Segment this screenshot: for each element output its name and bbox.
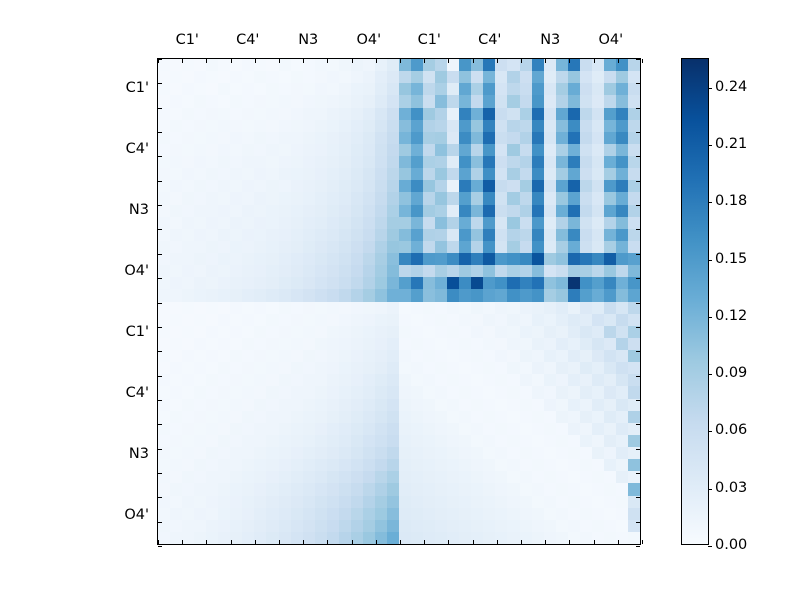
heatmap-cell <box>315 59 327 71</box>
heatmap-cell <box>604 302 616 314</box>
heatmap-cell <box>230 483 242 495</box>
heatmap-cell <box>411 156 423 168</box>
heatmap-cell <box>375 120 387 132</box>
heatmap-cell <box>170 289 182 301</box>
heatmap-cell <box>556 132 568 144</box>
heatmap-cell <box>532 350 544 362</box>
heatmap-cell <box>435 120 447 132</box>
heatmap-cell <box>592 386 604 398</box>
heatmap-cell <box>279 95 291 107</box>
heatmap-cell <box>532 120 544 132</box>
heatmap-cell <box>230 338 242 350</box>
heatmap-cell <box>580 229 592 241</box>
heatmap-cell <box>254 411 266 423</box>
heatmap-cell <box>279 362 291 374</box>
heatmap-cell <box>194 326 206 338</box>
heatmap-cell <box>351 180 363 192</box>
heatmap-cell <box>471 277 483 289</box>
heatmap-cell <box>399 95 411 107</box>
heatmap-cell <box>580 71 592 83</box>
heatmap-cell <box>520 386 532 398</box>
heatmap-cell <box>544 289 556 301</box>
heatmap-cell <box>495 386 507 398</box>
heatmap-cell <box>507 447 519 459</box>
heatmap-cell <box>242 520 254 532</box>
heatmap-cell <box>592 144 604 156</box>
heatmap-cell <box>303 374 315 386</box>
heatmap-cell <box>303 532 315 544</box>
heatmap-cell <box>411 277 423 289</box>
heatmap-cell <box>291 71 303 83</box>
heatmap-cell <box>459 289 471 301</box>
heatmap-cell <box>266 59 278 71</box>
heatmap-cell <box>230 314 242 326</box>
heatmap-cell <box>532 205 544 217</box>
heatmap-cell <box>242 289 254 301</box>
heatmap-cell <box>423 277 435 289</box>
heatmap-cell <box>556 520 568 532</box>
heatmap-cell <box>158 253 170 265</box>
heatmap-cell <box>375 435 387 447</box>
heatmap-cell <box>315 362 327 374</box>
heatmap-cell <box>520 120 532 132</box>
heatmap-cell <box>604 156 616 168</box>
heatmap-cell <box>242 435 254 447</box>
heatmap-cell <box>351 132 363 144</box>
heatmap-cell <box>291 132 303 144</box>
heatmap-cell <box>279 399 291 411</box>
heatmap-cell <box>194 265 206 277</box>
heatmap-cell <box>266 496 278 508</box>
heatmap-cell <box>363 241 375 253</box>
heatmap-cell <box>230 59 242 71</box>
heatmap-cell <box>592 314 604 326</box>
heatmap-cell <box>532 362 544 374</box>
heatmap-cell <box>279 435 291 447</box>
heatmap-cell <box>266 350 278 362</box>
heatmap-cell <box>363 435 375 447</box>
heatmap-cell <box>495 471 507 483</box>
heatmap-cell <box>495 180 507 192</box>
heatmap-cell <box>616 144 628 156</box>
heatmap-cell <box>435 314 447 326</box>
heatmap-cell <box>471 144 483 156</box>
heatmap-cell <box>556 362 568 374</box>
heatmap-cell <box>327 411 339 423</box>
x-tick-mark <box>279 540 280 544</box>
heatmap-cell <box>447 289 459 301</box>
heatmap-cell <box>291 326 303 338</box>
heatmap-cell <box>351 411 363 423</box>
heatmap-cell <box>363 132 375 144</box>
heatmap-cell <box>303 192 315 204</box>
heatmap-cell <box>399 447 411 459</box>
x-tick-mark <box>594 540 595 544</box>
heatmap-cell <box>339 71 351 83</box>
heatmap-cell <box>592 156 604 168</box>
heatmap-cell <box>471 95 483 107</box>
heatmap-cell <box>459 205 471 217</box>
heatmap-cell <box>315 435 327 447</box>
heatmap-cell <box>291 205 303 217</box>
heatmap-cell <box>423 108 435 120</box>
heatmap-cell <box>592 423 604 435</box>
heatmap-cell <box>291 241 303 253</box>
heatmap-cell <box>194 192 206 204</box>
heatmap-cell <box>495 144 507 156</box>
heatmap-cell <box>532 496 544 508</box>
heatmap-cell <box>158 83 170 95</box>
heatmap-cell <box>411 217 423 229</box>
heatmap-cell <box>206 350 218 362</box>
heatmap-cell <box>435 350 447 362</box>
heatmap-cell <box>327 471 339 483</box>
heatmap-cell <box>423 83 435 95</box>
heatmap-cell <box>483 277 495 289</box>
heatmap-cell <box>544 314 556 326</box>
heatmap-cell <box>628 108 640 120</box>
heatmap-cell <box>242 496 254 508</box>
x-tick-mark <box>158 540 159 544</box>
heatmap-cell <box>447 326 459 338</box>
heatmap-cell <box>170 423 182 435</box>
heatmap-cell <box>604 338 616 350</box>
heatmap-cell <box>194 253 206 265</box>
heatmap-cell <box>158 180 170 192</box>
heatmap-cell <box>507 302 519 314</box>
heatmap-cell <box>351 108 363 120</box>
heatmap-cell <box>218 217 230 229</box>
heatmap-cell <box>266 120 278 132</box>
heatmap-cell <box>339 180 351 192</box>
heatmap-cell <box>435 108 447 120</box>
heatmap-cell <box>435 362 447 374</box>
heatmap-cell <box>423 326 435 338</box>
heatmap-cell <box>604 496 616 508</box>
x-tick-mark <box>521 540 522 544</box>
heatmap-cell <box>387 302 399 314</box>
heatmap-cell <box>254 265 266 277</box>
heatmap-cell <box>315 83 327 95</box>
heatmap-cell <box>218 483 230 495</box>
heatmap-cell <box>375 302 387 314</box>
heatmap-cell <box>387 289 399 301</box>
heatmap-cell <box>194 180 206 192</box>
heatmap-cell <box>495 496 507 508</box>
heatmap-cell <box>194 362 206 374</box>
heatmap-cell <box>230 205 242 217</box>
heatmap-cell <box>628 435 640 447</box>
heatmap-cell <box>411 83 423 95</box>
heatmap-cell <box>532 192 544 204</box>
heatmap-cell <box>351 241 363 253</box>
heatmap-cell <box>544 205 556 217</box>
heatmap-cell <box>423 435 435 447</box>
heatmap-cell <box>375 168 387 180</box>
heatmap-cell <box>507 217 519 229</box>
heatmap-cell <box>532 71 544 83</box>
heatmap-cell <box>604 205 616 217</box>
heatmap-cell <box>303 314 315 326</box>
heatmap-cell <box>616 483 628 495</box>
heatmap-cell <box>230 508 242 520</box>
heatmap-cell <box>471 374 483 386</box>
heatmap-cell <box>520 277 532 289</box>
heatmap-cell <box>568 132 580 144</box>
heatmap-cell <box>218 108 230 120</box>
heatmap-cell <box>266 83 278 95</box>
heatmap-cell <box>495 217 507 229</box>
y-tick-mark <box>636 303 640 304</box>
heatmap-cell <box>447 241 459 253</box>
heatmap-cell <box>206 362 218 374</box>
x-tick-mark <box>206 540 207 544</box>
heatmap-cell <box>230 532 242 544</box>
heatmap-cell <box>568 459 580 471</box>
colorbar-tick-label: 0.18 <box>715 193 747 209</box>
heatmap-cell <box>339 277 351 289</box>
heatmap-cell <box>254 132 266 144</box>
heatmap-cell <box>604 483 616 495</box>
heatmap-cell <box>266 326 278 338</box>
heatmap-cell <box>206 156 218 168</box>
heatmap-cell <box>507 399 519 411</box>
heatmap-cell <box>411 374 423 386</box>
heatmap-cell <box>291 508 303 520</box>
y-tick-label: C4' <box>105 385 149 401</box>
y-tick-mark <box>158 278 162 279</box>
y-tick-mark <box>636 229 640 230</box>
heatmap-cell <box>459 302 471 314</box>
heatmap-cell <box>230 253 242 265</box>
heatmap-cell <box>435 435 447 447</box>
heatmap-cell <box>194 423 206 435</box>
y-tick-mark <box>636 108 640 109</box>
heatmap-cell <box>279 302 291 314</box>
heatmap-cell <box>616 95 628 107</box>
x-tick-mark <box>352 59 353 63</box>
heatmap-cell <box>387 350 399 362</box>
heatmap-cell <box>182 241 194 253</box>
heatmap-cell <box>315 95 327 107</box>
heatmap-cell <box>532 144 544 156</box>
heatmap-cell <box>387 229 399 241</box>
heatmap-cell <box>447 508 459 520</box>
heatmap-cell <box>363 338 375 350</box>
heatmap-cell <box>170 386 182 398</box>
heatmap-cell <box>447 423 459 435</box>
heatmap-cell <box>483 95 495 107</box>
heatmap-cell <box>459 435 471 447</box>
heatmap-cell <box>327 532 339 544</box>
heatmap-cell <box>182 435 194 447</box>
heatmap-cell <box>266 132 278 144</box>
heatmap-cell <box>495 326 507 338</box>
heatmap-cell <box>556 350 568 362</box>
heatmap-cell <box>206 314 218 326</box>
heatmap-cell <box>339 156 351 168</box>
heatmap-cell <box>375 471 387 483</box>
heatmap-cell <box>387 83 399 95</box>
heatmap-cell <box>194 399 206 411</box>
heatmap-cell <box>520 241 532 253</box>
heatmap-cell <box>279 520 291 532</box>
heatmap-cell <box>471 338 483 350</box>
heatmap-cell <box>158 108 170 120</box>
heatmap-cell <box>580 520 592 532</box>
heatmap-cell <box>399 435 411 447</box>
heatmap-cell <box>556 59 568 71</box>
heatmap-cell <box>483 483 495 495</box>
heatmap-cell <box>158 229 170 241</box>
heatmap-cell <box>447 520 459 532</box>
heatmap-cell <box>532 374 544 386</box>
heatmap-cell <box>544 217 556 229</box>
heatmap-cell <box>363 374 375 386</box>
x-tick-mark <box>231 59 232 63</box>
heatmap-cell <box>218 532 230 544</box>
heatmap-cell <box>544 229 556 241</box>
heatmap-cell <box>616 471 628 483</box>
heatmap-cell <box>507 289 519 301</box>
heatmap-cell <box>411 508 423 520</box>
y-tick-mark <box>158 546 162 547</box>
heatmap-cell <box>182 156 194 168</box>
heatmap-cell <box>399 362 411 374</box>
heatmap-cell <box>194 95 206 107</box>
heatmap-cell <box>182 265 194 277</box>
heatmap-cell <box>628 95 640 107</box>
heatmap-cell <box>520 338 532 350</box>
heatmap-cell <box>459 83 471 95</box>
heatmap-cell <box>363 326 375 338</box>
heatmap-cell <box>568 277 580 289</box>
heatmap-cell <box>435 338 447 350</box>
heatmap-cell <box>206 168 218 180</box>
heatmap-cell <box>279 411 291 423</box>
heatmap-cell <box>544 374 556 386</box>
heatmap-cell <box>604 386 616 398</box>
heatmap-cell <box>327 71 339 83</box>
y-tick-label: C1' <box>105 324 149 340</box>
heatmap-cell <box>471 265 483 277</box>
colorbar <box>681 58 709 545</box>
heatmap-cell <box>556 168 568 180</box>
heatmap-cell <box>495 192 507 204</box>
heatmap-cell <box>483 338 495 350</box>
heatmap-cell <box>363 508 375 520</box>
heatmap-cell <box>483 83 495 95</box>
heatmap-cell <box>303 289 315 301</box>
heatmap-cell <box>495 168 507 180</box>
heatmap-cell <box>315 120 327 132</box>
heatmap-cell <box>423 302 435 314</box>
heatmap-cell <box>182 496 194 508</box>
heatmap-cell <box>399 180 411 192</box>
heatmap-cell <box>182 229 194 241</box>
heatmap-cell <box>254 192 266 204</box>
x-tick-mark <box>303 540 304 544</box>
heatmap-cell <box>411 180 423 192</box>
heatmap-cell <box>315 229 327 241</box>
heatmap-cell <box>266 411 278 423</box>
heatmap-cell <box>459 229 471 241</box>
heatmap-cell <box>254 423 266 435</box>
heatmap-cell <box>375 132 387 144</box>
heatmap-cell <box>279 83 291 95</box>
heatmap-cell <box>616 447 628 459</box>
heatmap-cell <box>568 447 580 459</box>
heatmap-cell <box>303 459 315 471</box>
heatmap-cell <box>218 326 230 338</box>
heatmap-cell <box>435 374 447 386</box>
heatmap-cell <box>170 156 182 168</box>
heatmap-cell <box>556 217 568 229</box>
heatmap-cell <box>158 386 170 398</box>
heatmap-cell <box>507 229 519 241</box>
heatmap-cell <box>568 471 580 483</box>
heatmap-cell <box>242 59 254 71</box>
heatmap-cell <box>387 180 399 192</box>
heatmap-cell <box>351 483 363 495</box>
heatmap-cell <box>592 253 604 265</box>
heatmap-cell <box>230 71 242 83</box>
heatmap-cell <box>616 217 628 229</box>
heatmap-cell <box>471 435 483 447</box>
heatmap-cell <box>351 253 363 265</box>
heatmap-cell <box>254 508 266 520</box>
heatmap-cell <box>568 399 580 411</box>
y-tick-mark <box>636 351 640 352</box>
heatmap-cell <box>471 71 483 83</box>
heatmap-cell <box>580 108 592 120</box>
heatmap-cell <box>303 156 315 168</box>
heatmap-cell <box>447 496 459 508</box>
heatmap-cell <box>387 435 399 447</box>
heatmap-cell <box>351 59 363 71</box>
heatmap-cell <box>315 496 327 508</box>
heatmap-cell <box>423 192 435 204</box>
heatmap-cell <box>230 217 242 229</box>
heatmap-cell <box>279 71 291 83</box>
heatmap-cell <box>242 95 254 107</box>
heatmap-cell <box>556 144 568 156</box>
heatmap-cell <box>254 447 266 459</box>
heatmap-cell <box>616 180 628 192</box>
heatmap-cell <box>592 326 604 338</box>
heatmap-cell <box>532 338 544 350</box>
heatmap-cell <box>279 386 291 398</box>
heatmap-cell <box>266 399 278 411</box>
heatmap-cell <box>279 289 291 301</box>
heatmap-cell <box>194 350 206 362</box>
heatmap-cell <box>206 217 218 229</box>
heatmap-cell <box>520 423 532 435</box>
heatmap-cell <box>351 326 363 338</box>
heatmap-cell <box>592 338 604 350</box>
heatmap-cell <box>266 386 278 398</box>
heatmap-cell <box>423 132 435 144</box>
heatmap-cell <box>351 229 363 241</box>
heatmap-cell <box>592 496 604 508</box>
heatmap-cell <box>399 289 411 301</box>
heatmap-cell <box>580 362 592 374</box>
x-tick-label: C4' <box>236 32 259 48</box>
heatmap-cell <box>592 265 604 277</box>
y-tick-mark <box>158 83 162 84</box>
heatmap-cell <box>447 338 459 350</box>
heatmap-cell <box>206 326 218 338</box>
